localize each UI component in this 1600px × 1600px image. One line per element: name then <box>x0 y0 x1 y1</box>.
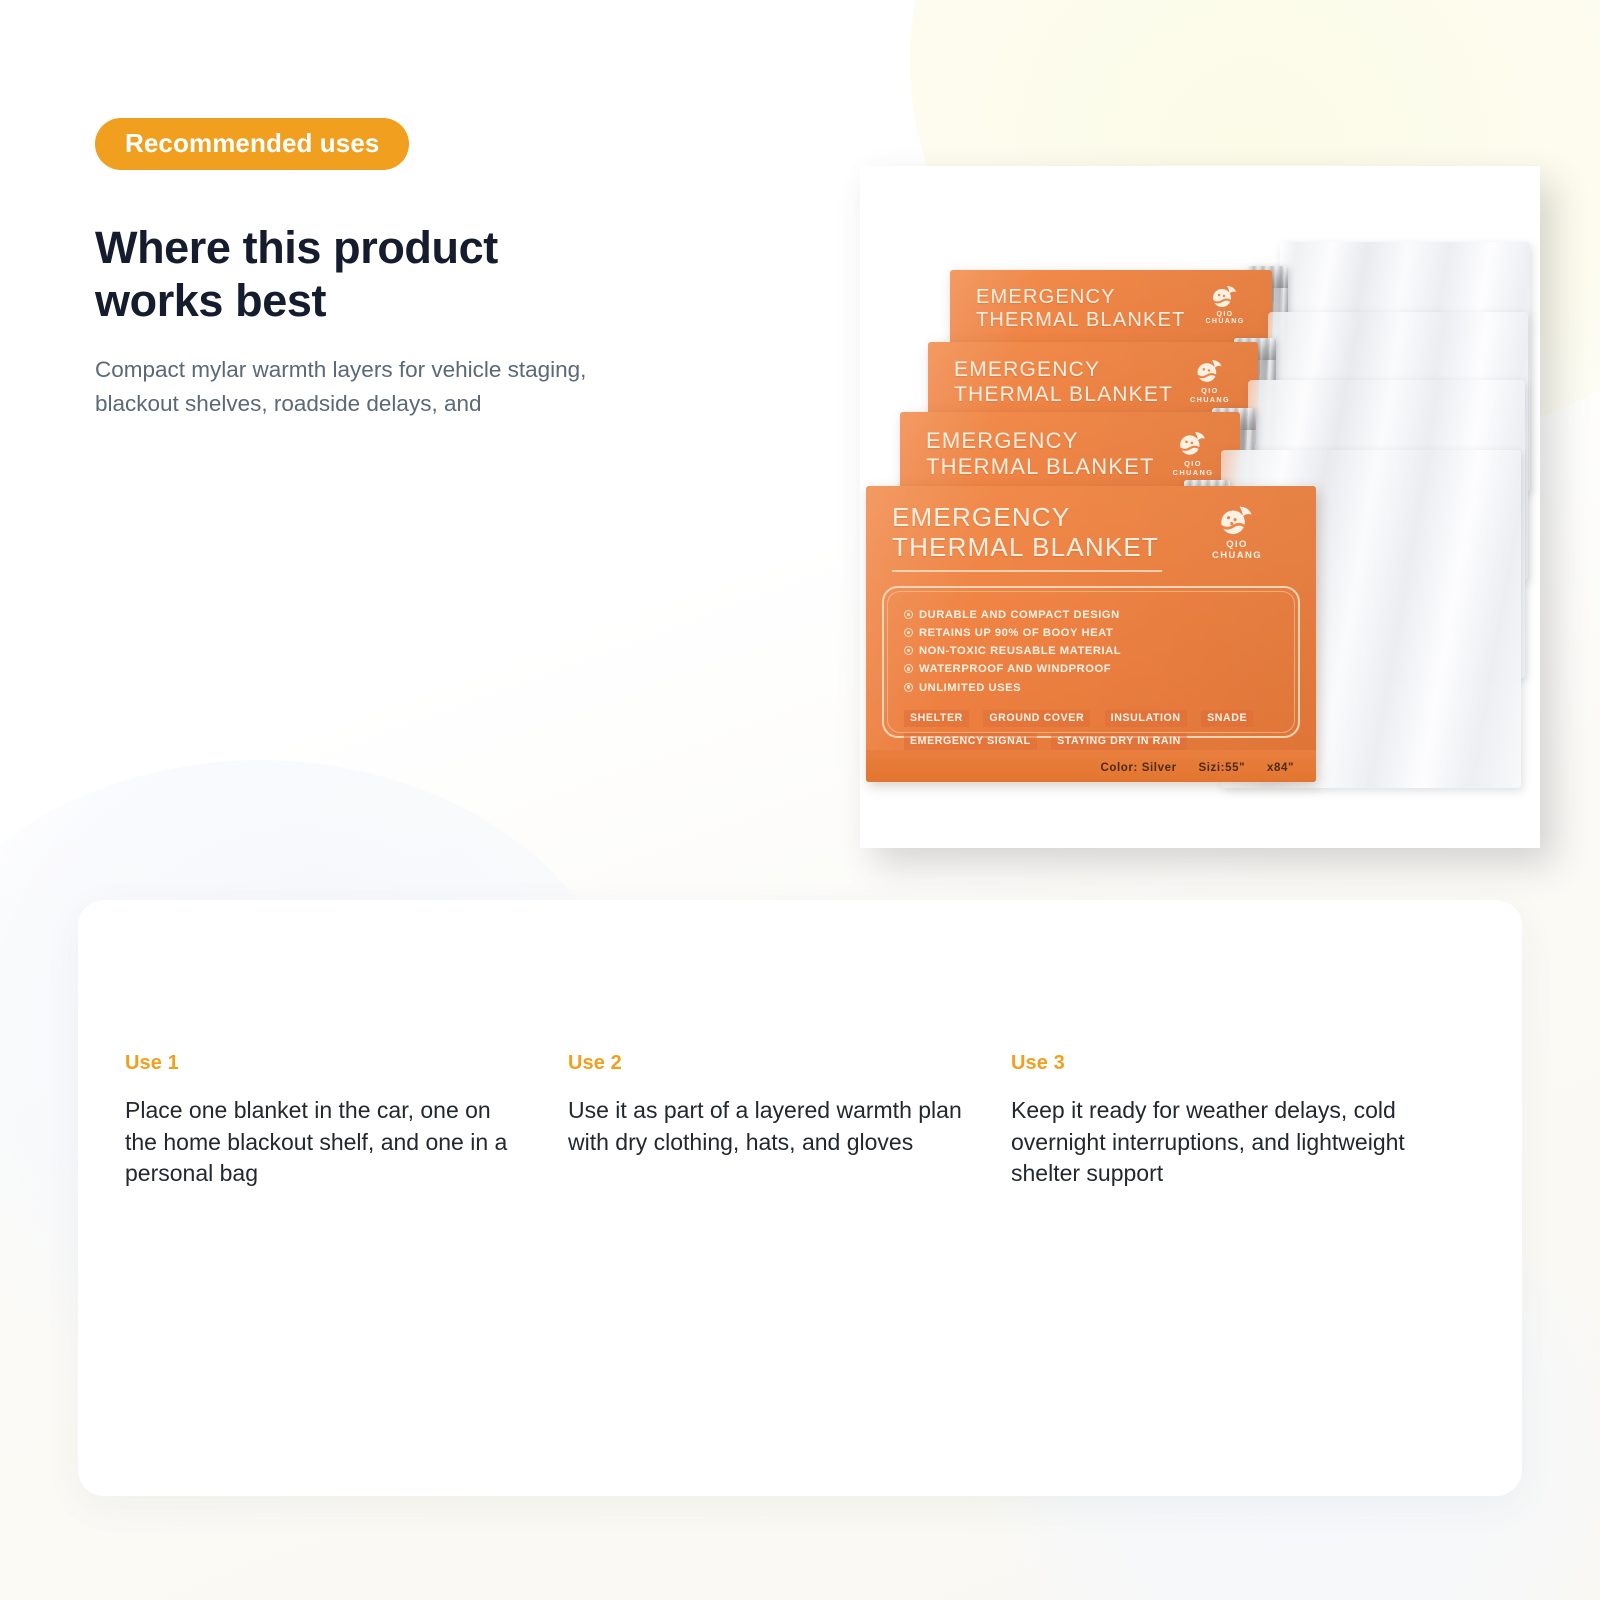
use-tag: EMERGENCY SIGNAL <box>904 733 1037 750</box>
spec-size-2: x84" <box>1267 762 1294 774</box>
use-tag: INSULATION <box>1105 710 1187 727</box>
dolphin-wave-icon <box>1210 504 1264 538</box>
use-label: Use 2 <box>568 1052 966 1075</box>
product-image-panel: EMERGENCY THERMAL BLANKET QIO CHUANG <box>860 166 1540 848</box>
uses-grid: Use 1 Place one blanket in the car, one … <box>125 1052 1475 1190</box>
use-column-2: Use 2 Use it as part of a layered warmth… <box>568 1052 1011 1190</box>
use-description: Use it as part of a layered warmth plan … <box>568 1095 966 1158</box>
recommended-uses-badge: Recommended uses <box>95 118 409 170</box>
spec-size: Sizi:55" <box>1198 762 1245 774</box>
brand-name: QIO CHUANG <box>1200 539 1274 561</box>
use-tag-row: EMERGENCY SIGNAL STAYING DRY IN RAIN <box>904 731 1304 750</box>
feature-item: UNLIMITED USES <box>904 679 1121 697</box>
pack-title: EMERGENCY THERMAL BLANKET <box>892 502 1159 563</box>
brand-logo: QIO CHUANG <box>1200 504 1274 561</box>
use-tag-row: SHELTER GROUND COVER INSULATION SNADE <box>904 708 1304 727</box>
use-description: Keep it ready for weather delays, cold o… <box>1011 1095 1409 1190</box>
use-tag: GROUND COVER <box>983 710 1090 727</box>
spec-footer-bar: Color: Silver Sizi:55" x84" <box>866 750 1316 782</box>
spec-footer-text: Color: Silver Sizi:55" x84" <box>1082 762 1294 774</box>
uses-card: Use 1 Place one blanket in the car, one … <box>78 900 1522 1496</box>
use-tag: SNADE <box>1201 710 1253 727</box>
use-description: Place one blanket in the car, one on the… <box>125 1095 523 1190</box>
spec-color: Color: Silver <box>1100 762 1176 774</box>
page-subtitle: Compact mylar warmth layers for vehicle … <box>95 353 635 420</box>
hero-text-column: Recommended uses Where this product work… <box>95 118 715 420</box>
feature-list: DURABLE AND COMPACT DESIGN RETAINS UP 90… <box>904 606 1121 697</box>
title-underline <box>892 570 1162 572</box>
feature-item: NON-TOXIC REUSABLE MATERIAL <box>904 642 1121 660</box>
use-label: Use 1 <box>125 1052 523 1075</box>
feature-item: DURABLE AND COMPACT DESIGN <box>904 606 1121 624</box>
product-card-front: EMERGENCY THERMAL BLANKET QIO CHUANG <box>866 486 1316 782</box>
product-photo: EMERGENCY THERMAL BLANKET QIO CHUANG <box>860 166 1540 848</box>
use-label: Use 3 <box>1011 1052 1409 1075</box>
use-tag: SHELTER <box>904 710 969 727</box>
dolphin-wave-icon <box>1205 284 1245 310</box>
use-column-3: Use 3 Keep it ready for weather delays, … <box>1011 1052 1454 1190</box>
use-tag: STAYING DRY IN RAIN <box>1051 733 1187 750</box>
feature-item: RETAINS UP 90% OF BOOY HEAT <box>904 624 1121 642</box>
product-pack-front: EMERGENCY THERMAL BLANKET QIO CHUANG <box>866 450 1536 790</box>
use-column-1: Use 1 Place one blanket in the car, one … <box>125 1052 568 1190</box>
page-title: Where this product works best <box>95 222 625 327</box>
feature-item: WATERPROOF AND WINDPROOF <box>904 660 1121 678</box>
